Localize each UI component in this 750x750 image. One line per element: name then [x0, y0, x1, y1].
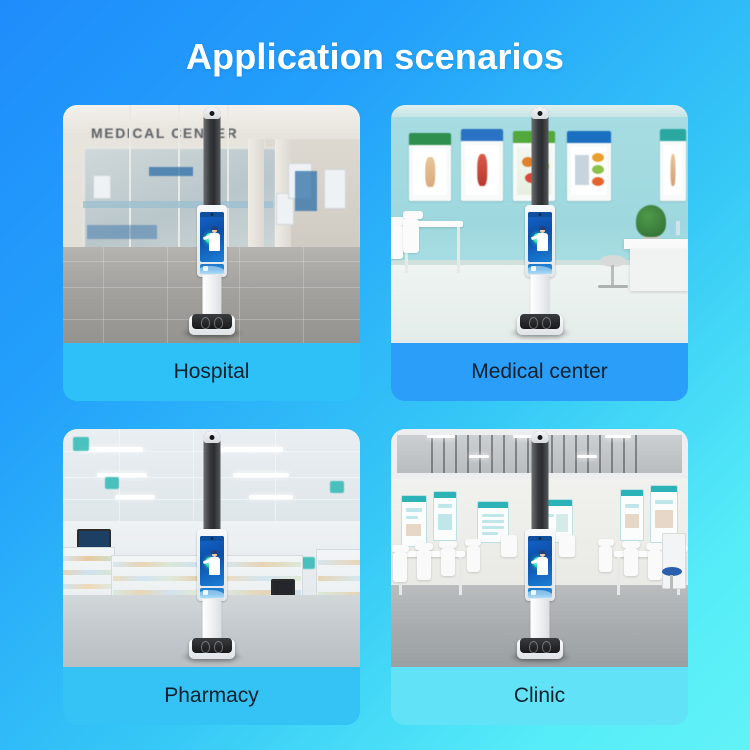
measuring-kiosk [189, 107, 235, 335]
measuring-kiosk [189, 431, 235, 659]
application-scenarios-page: Application scenarios MEDICAL CENTER [0, 0, 750, 750]
wall-poster [401, 495, 427, 547]
medical-cart [662, 533, 686, 589]
card-label-medical-center: Medical center [391, 343, 688, 401]
measuring-kiosk [517, 431, 563, 659]
sensor-arm-icon [203, 107, 220, 211]
camera-icon [209, 435, 214, 440]
pharmacy-photo [63, 429, 360, 667]
chair [403, 211, 423, 219]
scenario-card-medical-center[interactable]: Medical center [391, 105, 688, 401]
muscle-poster [461, 129, 503, 201]
chair [391, 545, 409, 552]
exam-counter [624, 239, 688, 249]
measuring-kiosk [517, 107, 563, 335]
card-label-pharmacy: Pharmacy [63, 667, 360, 725]
kiosk-display [200, 536, 224, 586]
potted-plant [636, 205, 666, 237]
scenario-card-pharmacy[interactable]: Pharmacy [63, 429, 360, 725]
camera-icon [209, 111, 214, 116]
card-label-hospital: Hospital [63, 343, 360, 401]
footplate [520, 314, 560, 329]
footplate [192, 638, 232, 653]
medical-center-photo [391, 105, 688, 343]
anatomy-poster [409, 133, 451, 201]
page-title: Application scenarios [0, 36, 750, 78]
footplate [520, 638, 560, 653]
card-label-clinic: Clinic [391, 667, 688, 725]
camera-icon [537, 435, 542, 440]
camera-icon [537, 111, 542, 116]
info-poster [567, 131, 611, 201]
kiosk-display [528, 212, 552, 262]
clinic-photo [391, 429, 688, 667]
footplate [192, 314, 232, 329]
scenario-card-clinic[interactable]: Clinic [391, 429, 688, 725]
scenario-card-hospital[interactable]: MEDICAL CENTER [63, 105, 360, 401]
kiosk-display [200, 212, 224, 262]
scenario-grid: MEDICAL CENTER [63, 105, 688, 725]
hospital-photo: MEDICAL CENTER [63, 105, 360, 343]
kiosk-display [528, 536, 552, 586]
